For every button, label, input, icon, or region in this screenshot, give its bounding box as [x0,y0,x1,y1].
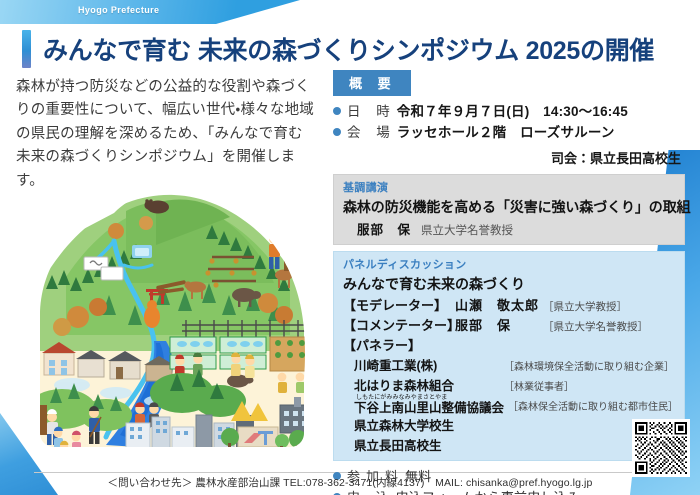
keynote-speaker-affiliation: 県立大学名誉教授 [421,225,513,237]
overview-venue-value: ラッセホール２階 ローズサルーン [397,123,615,143]
keynote-speaker-name: 服部 保 [357,223,411,237]
panelist-org-with-ruby: しもたにがみみなみやまさとやま 下谷上南山里山整備協議会 [354,395,504,415]
panel-role-commentator: 【コメンテーター】 服部 保 ［県立大学名誉教授］ [343,315,676,334]
overview-date-key: 日 時 [347,102,396,122]
panelist-row: 川崎重工業(株) ［森林環境保全活動に取り組む企業］ [343,355,676,374]
panelist-row: 県立長田高校生 [343,435,676,454]
panelist-org: 県立森林大学校生 [354,415,454,434]
panel-headline: みんなで育む未来の森づくり [343,274,676,294]
moderator-affiliation: ［県立大学教授］ [543,299,627,314]
panelist-org: 県立長田高校生 [354,435,442,454]
panelist-row: 県立森林大学校生 [343,415,676,434]
qr-code-icon[interactable] [632,419,690,477]
panelists-heading: 【パネラー】 [343,335,676,354]
overview-date-value: 令和７年９月７日(日) 14:30〜16:45 [397,102,628,122]
page-title: みんなで育む 未来の森づくりシンポジウム 2025の開催 [22,28,690,70]
commentator-role-label: 【コメンテーター】 [343,315,455,334]
keynote-label: 基調講演 [343,179,676,195]
panelist-row: しもたにがみみなみやまさとやま 下谷上南山里山整備協議会 ［森林保全活動に取り組… [343,395,676,415]
prefecture-tab: Hyogo Prefecture [0,0,300,24]
footer-contact: ＜問い合わせ先＞ 農林水産部治山課 TEL:078-362-3471(内線413… [0,475,700,490]
poster-root: Hyogo Prefecture みんなで育む 未来の森づくりシンポジウム 20… [0,0,700,495]
title-accent-bar [22,30,31,68]
overview-list: 日 時 令和７年９月７日(日) 14:30〜16:45 会 場 ラッセホール２階… [333,102,685,144]
keynote-headline: 森林の防災機能を高める「災害に強い森づくり」の取組 [343,197,676,217]
overview-host: 司会：県立長田高校生 [333,148,681,167]
overview-badge: 概 要 [333,70,411,96]
bullet-icon [333,107,341,115]
panel-label: パネルディスカッション [343,256,676,272]
panelist-org: 川崎重工業(株) [354,355,500,374]
overview-item-date: 日 時 令和７年９月７日(日) 14:30〜16:45 [333,102,685,122]
bullet-icon [333,128,341,136]
panelist-affiliation: ［森林環境保全活動に取り組む企業］ [504,358,674,374]
panel-role-moderator: 【モデレーター】 山瀬 敬太郎 ［県立大学教授］ [343,295,676,314]
lead-paragraph: 森林が持つ防災などの公益的な役割や森づくりの重要性について、幅広い世代・様々な地… [16,76,316,193]
overview-item-venue: 会 場 ラッセホール２階 ローズサルーン [333,123,685,143]
panelist-row: 北はりま森林組合 ［林業従事者］ [343,375,676,394]
commentator-name: 服部 保 [455,315,543,334]
panelist-affiliation: ［森林保全活動に取り組む都市住民］ [508,398,678,414]
satoyama-illustration [6,165,326,465]
keynote-speaker: 服部 保県立大学名誉教授 [343,219,676,238]
moderator-role-label: 【モデレーター】 [343,295,455,314]
title-text: みんなで育む 未来の森づくりシンポジウム 2025の開催 [43,31,654,67]
prefecture-tab-label: Hyogo Prefecture [78,5,159,15]
commentator-affiliation: ［県立大学名誉教授］ [543,319,648,334]
panelist-org: 下谷上南山里山整備協議会 [354,402,504,415]
panelist-org: 北はりま森林組合 [354,375,500,394]
keynote-section: 基調講演 森林の防災機能を高める「災害に強い森づくり」の取組 服部 保県立大学名… [333,174,685,245]
moderator-name: 山瀬 敬太郎 [455,295,543,314]
panelist-affiliation: ［林業従事者］ [504,378,574,394]
overview-venue-key: 会 場 [347,123,396,143]
panelist-org-ruby: しもたにがみみなみやまさとやま [354,395,504,401]
panelists-block: 【パネラー】 川崎重工業(株) ［森林環境保全活動に取り組む企業］ 北はりま森林… [343,335,676,455]
